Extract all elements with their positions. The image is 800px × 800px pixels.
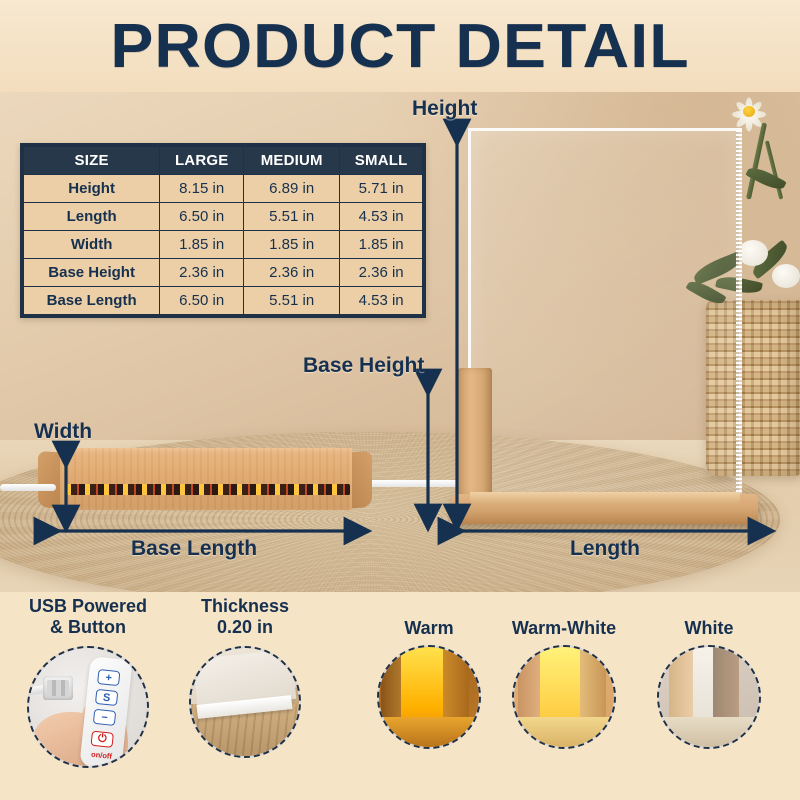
light-color-label-warm: Warm: [368, 618, 490, 639]
dimension-label-length: Length: [570, 538, 640, 560]
feature-usb-label-line2: & Button: [12, 617, 164, 638]
feature-strip: USB Powered & Button + S − ⏻: [0, 592, 800, 800]
light-color-label-white: White: [648, 618, 770, 639]
feature-usb-label-line1: USB Powered: [12, 596, 164, 617]
feature-usb: USB Powered & Button + S − ⏻: [12, 596, 164, 768]
light-white-photo-circle: [657, 645, 761, 749]
thickness-photo-inner: [191, 648, 299, 756]
remote-power-button[interactable]: ⏻: [91, 731, 114, 748]
light-warm-white-photo-circle: [512, 645, 616, 749]
remote-onoff-label: on/off: [86, 749, 117, 761]
dimension-label-base-length: Base Length: [131, 538, 257, 560]
usb-photo-circle: + S − ⏻ on/off: [27, 646, 149, 768]
remote-speed-button[interactable]: S: [95, 689, 118, 706]
remote-plus-button[interactable]: +: [97, 669, 120, 686]
light-warm-inner: [379, 647, 479, 747]
page-title: PRODUCT DETAIL: [0, 16, 800, 78]
thickness-photo-circle: [189, 646, 301, 758]
usb-metal-contacts: [47, 680, 69, 696]
dimension-label-width: Width: [34, 421, 92, 443]
feature-light-white: White: [648, 618, 770, 749]
remote-minus-button[interactable]: −: [93, 709, 116, 726]
feature-light-warm: Warm: [368, 618, 490, 749]
feature-thickness-label: Thickness 0.20 in: [180, 596, 310, 638]
infographic-page: PRODUCT DETAIL SIZE LARGE MEDIUM SMALL H…: [0, 0, 800, 800]
light-warm-white-inner: [514, 647, 614, 747]
light-warm-photo-circle: [377, 645, 481, 749]
feature-thickness-label-line2: 0.20 in: [180, 617, 310, 638]
feature-thickness-label-line1: Thickness: [180, 596, 310, 617]
usb-connector-icon: [43, 676, 73, 700]
warm-white-floor: [514, 717, 614, 747]
dimension-label-base-height: Base Height: [303, 355, 424, 377]
light-color-label-warm-white: Warm-White: [494, 618, 634, 639]
dimension-label-height: Height: [412, 98, 477, 120]
warm-floor: [379, 717, 479, 747]
feature-light-warm-white: Warm-White: [494, 618, 634, 749]
light-white-inner: [659, 647, 759, 747]
usb-photo-inner: + S − ⏻ on/off: [29, 648, 147, 766]
white-floor: [659, 717, 759, 747]
feature-usb-label: USB Powered & Button: [12, 596, 164, 638]
feature-thickness: Thickness 0.20 in: [180, 596, 310, 758]
